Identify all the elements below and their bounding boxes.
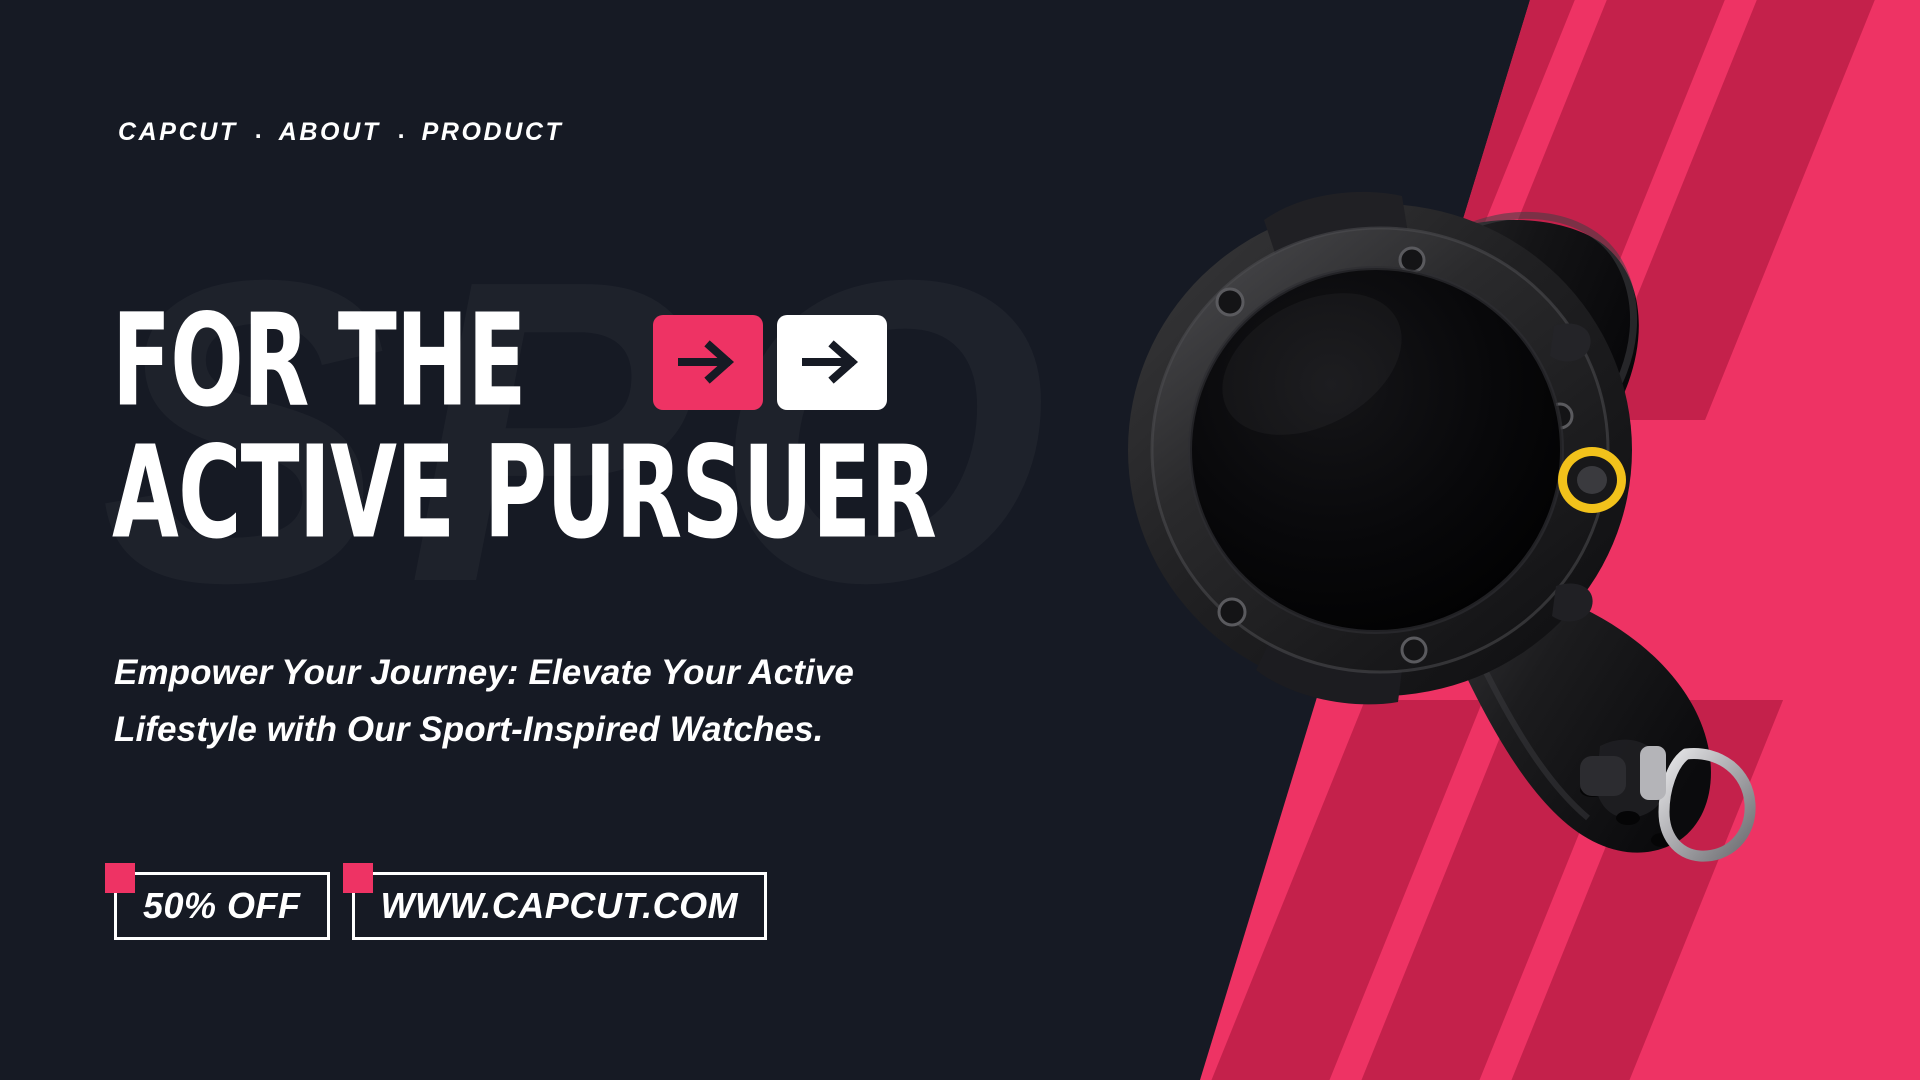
cta-row: 50% OFF WWW.CAPCUT.COM	[114, 872, 767, 940]
website-label: WWW.CAPCUT.COM	[381, 885, 739, 927]
headline-row-one: FOR THE	[112, 310, 1142, 414]
discount-label: 50% OFF	[143, 885, 301, 927]
promo-banner: SPO CAPCUT . ABOUT . PRODUCT FOR THE	[0, 0, 1920, 1080]
website-badge[interactable]: WWW.CAPCUT.COM	[352, 872, 768, 940]
nav-item-about[interactable]: ABOUT	[279, 118, 381, 147]
watch-crown	[1558, 447, 1626, 513]
top-navigation: CAPCUT . ABOUT . PRODUCT	[118, 118, 563, 147]
arrow-right-icon	[676, 338, 740, 386]
smartwatch-illustration	[1080, 150, 1780, 870]
discount-badge[interactable]: 50% OFF	[114, 872, 330, 940]
arrow-badge-pink[interactable]	[653, 315, 763, 410]
nav-item-product[interactable]: PRODUCT	[422, 118, 564, 147]
corner-square-accent	[105, 863, 135, 893]
product-image-smartwatch	[1080, 150, 1780, 870]
hero-headline: FOR THE	[112, 310, 1142, 546]
hero-subtext: Empower Your Journey: Elevate Your Activ…	[114, 645, 994, 758]
subtext-line-2: Lifestyle with Our Sport-Inspired Watche…	[114, 702, 994, 759]
nav-separator: .	[238, 116, 279, 145]
subtext-line-1: Empower Your Journey: Elevate Your Activ…	[114, 645, 994, 702]
nav-separator: .	[381, 116, 422, 145]
arrow-right-icon	[800, 338, 864, 386]
headline-row-two: ACTIVE PURSUER	[112, 442, 1142, 546]
corner-square-accent	[343, 863, 373, 893]
nav-item-capcut[interactable]: CAPCUT	[118, 118, 238, 147]
headline-line-1: FOR THE	[112, 301, 526, 422]
headline-line-2: ACTIVE PURSUER	[112, 433, 936, 554]
arrow-badge-white[interactable]	[777, 315, 887, 410]
arrow-badge-group	[653, 315, 887, 410]
